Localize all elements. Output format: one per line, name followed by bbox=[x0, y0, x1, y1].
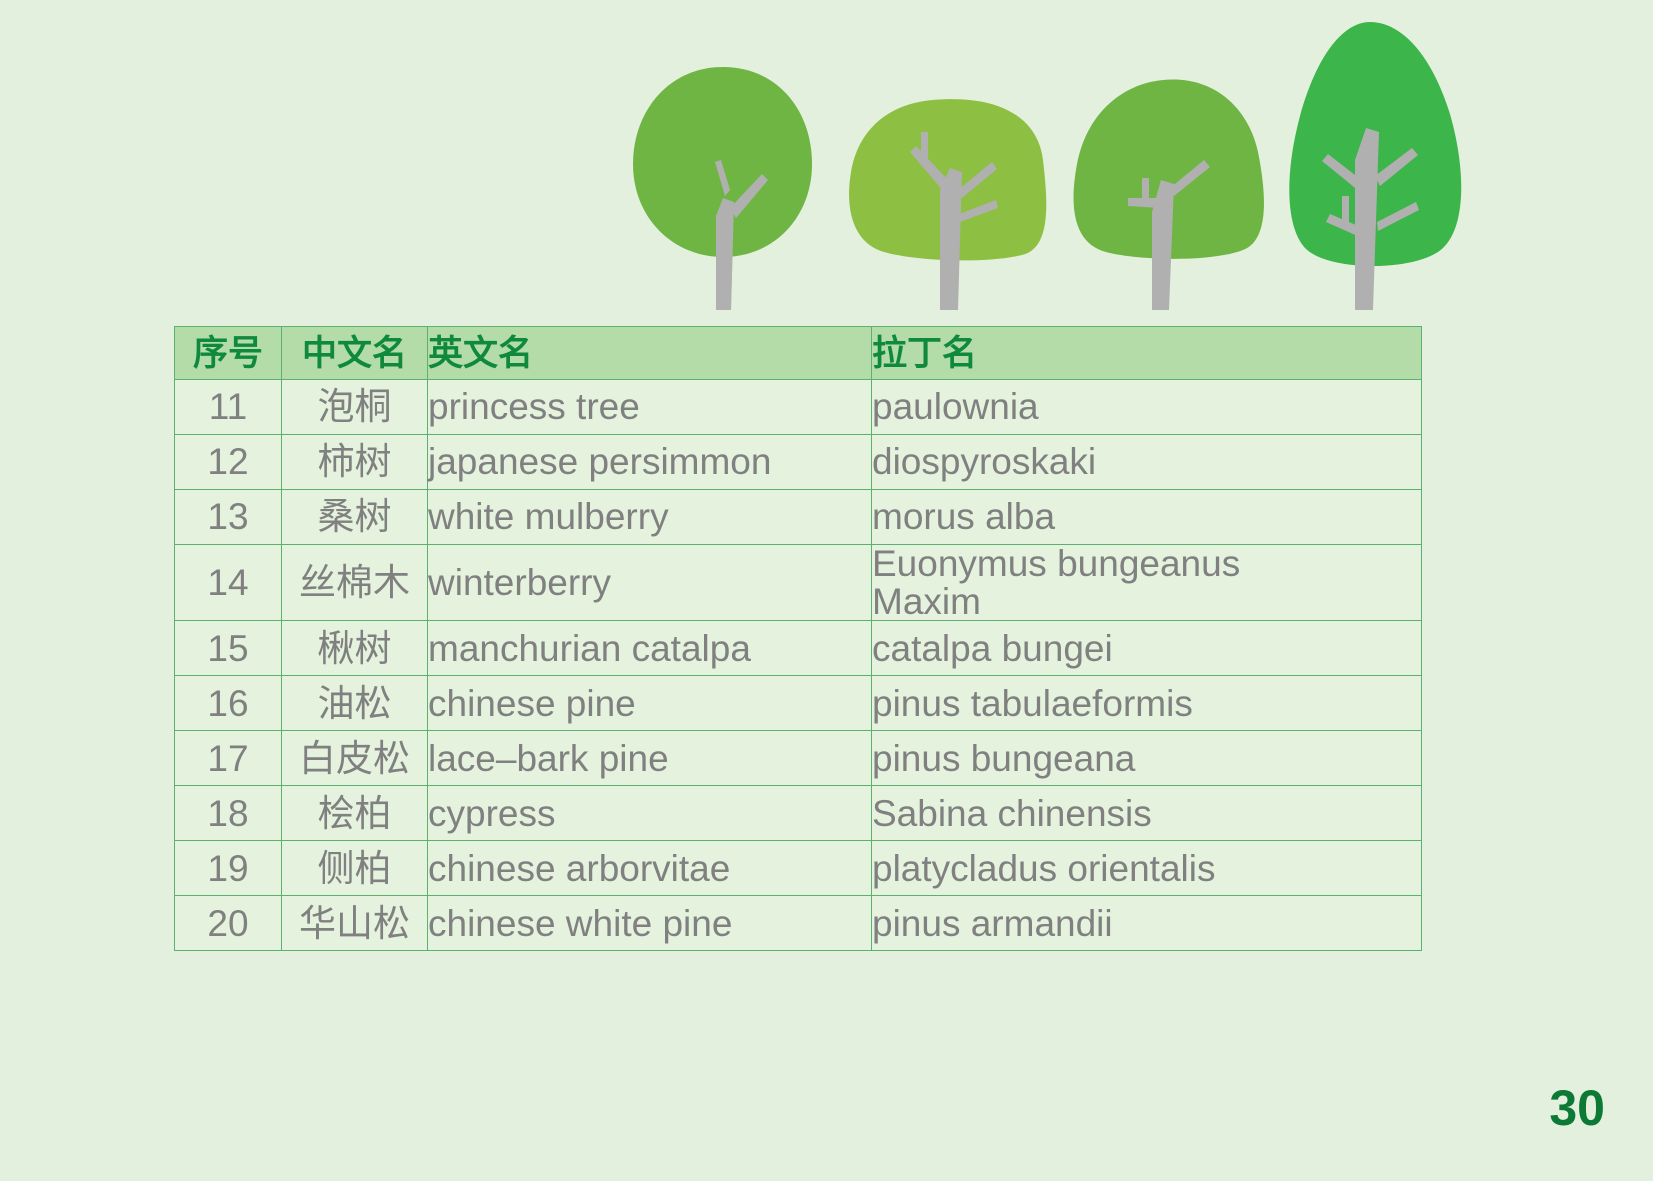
cell-latin-line1: platycladus orientalis bbox=[872, 850, 1421, 888]
cell-english: chinese pine bbox=[428, 676, 872, 731]
tree-4-icon bbox=[1289, 22, 1461, 310]
column-header-chinese: 中文名 bbox=[282, 327, 428, 380]
table-row: 13 桑树 white mulberry morus alba bbox=[175, 490, 1422, 545]
cell-latin: paulownia bbox=[872, 380, 1422, 435]
cell-english: chinese white pine bbox=[428, 896, 872, 951]
cell-chinese: 侧柏 bbox=[282, 841, 428, 896]
tree-illustration-band bbox=[0, 0, 1653, 320]
cell-english: chinese arborvitae bbox=[428, 841, 872, 896]
cell-chinese: 柿树 bbox=[282, 435, 428, 490]
cell-index: 19 bbox=[175, 841, 282, 896]
table-row: 19 侧柏 chinese arborvitae platycladus ori… bbox=[175, 841, 1422, 896]
cell-latin: platycladus orientalis bbox=[872, 841, 1422, 896]
column-header-index: 序号 bbox=[175, 327, 282, 380]
table-row: 20 华山松 chinese white pine pinus armandii bbox=[175, 896, 1422, 951]
cell-english: cypress bbox=[428, 786, 872, 841]
cell-index: 18 bbox=[175, 786, 282, 841]
cell-latin-line1: catalpa bungei bbox=[872, 630, 1421, 668]
cell-index: 17 bbox=[175, 731, 282, 786]
column-header-english: 英文名 bbox=[428, 327, 872, 380]
tree-2-icon bbox=[849, 99, 1046, 310]
cell-chinese: 丝棉木 bbox=[282, 545, 428, 621]
cell-english: white mulberry bbox=[428, 490, 872, 545]
column-header-latin: 拉丁名 bbox=[872, 327, 1422, 380]
cell-latin: catalpa bungei bbox=[872, 621, 1422, 676]
cell-chinese: 白皮松 bbox=[282, 731, 428, 786]
cell-latin-line1: pinus bungeana bbox=[872, 740, 1421, 778]
cell-english: winterberry bbox=[428, 545, 872, 621]
cell-chinese: 华山松 bbox=[282, 896, 428, 951]
cell-latin-line2: Maxim bbox=[872, 583, 1421, 621]
table-row: 14 丝棉木 winterberry Euonymus bungeanus Ma… bbox=[175, 545, 1422, 621]
cell-index: 13 bbox=[175, 490, 282, 545]
cell-latin: Euonymus bungeanus Maxim bbox=[872, 545, 1422, 621]
cell-english: lace–bark pine bbox=[428, 731, 872, 786]
cell-latin: Sabina chinensis bbox=[872, 786, 1422, 841]
cell-index: 15 bbox=[175, 621, 282, 676]
cell-latin-line1: pinus tabulaeformis bbox=[872, 685, 1421, 723]
cell-english: japanese persimmon bbox=[428, 435, 872, 490]
table-header: 序号 中文名 英文名 拉丁名 bbox=[175, 327, 1422, 380]
cell-latin: pinus tabulaeformis bbox=[872, 676, 1422, 731]
species-table-wrap: 序号 中文名 英文名 拉丁名 11 泡桐 princess tree paulo… bbox=[174, 326, 1417, 951]
table-row: 15 楸树 manchurian catalpa catalpa bungei bbox=[175, 621, 1422, 676]
cell-chinese: 桑树 bbox=[282, 490, 428, 545]
cell-index: 14 bbox=[175, 545, 282, 621]
table-row: 17 白皮松 lace–bark pine pinus bungeana bbox=[175, 731, 1422, 786]
cell-latin: diospyroskaki bbox=[872, 435, 1422, 490]
table-row: 11 泡桐 princess tree paulownia bbox=[175, 380, 1422, 435]
cell-latin-line1: Sabina chinensis bbox=[872, 795, 1421, 833]
cell-latin-line1: morus alba bbox=[872, 498, 1421, 536]
table-header-row: 序号 中文名 英文名 拉丁名 bbox=[175, 327, 1422, 380]
cell-chinese: 泡桐 bbox=[282, 380, 428, 435]
cell-chinese: 油松 bbox=[282, 676, 428, 731]
cell-chinese: 桧柏 bbox=[282, 786, 428, 841]
cell-english: princess tree bbox=[428, 380, 872, 435]
cell-latin: pinus bungeana bbox=[872, 731, 1422, 786]
cell-latin-line1: pinus armandii bbox=[872, 905, 1421, 943]
cell-index: 16 bbox=[175, 676, 282, 731]
table-row: 16 油松 chinese pine pinus tabulaeformis bbox=[175, 676, 1422, 731]
cell-latin: pinus armandii bbox=[872, 896, 1422, 951]
table-row: 18 桧柏 cypress Sabina chinensis bbox=[175, 786, 1422, 841]
cell-index: 20 bbox=[175, 896, 282, 951]
page-number: 30 bbox=[1549, 1083, 1605, 1133]
table-row: 12 柿树 japanese persimmon diospyroskaki bbox=[175, 435, 1422, 490]
cell-chinese: 楸树 bbox=[282, 621, 428, 676]
cell-index: 11 bbox=[175, 380, 282, 435]
table-body: 11 泡桐 princess tree paulownia 12 柿树 japa… bbox=[175, 380, 1422, 951]
cell-index: 12 bbox=[175, 435, 282, 490]
tree-3-icon bbox=[1074, 79, 1264, 310]
cell-latin: morus alba bbox=[872, 490, 1422, 545]
cell-latin-line1: Euonymus bungeanus bbox=[872, 545, 1421, 583]
cell-latin-line1: paulownia bbox=[872, 388, 1421, 426]
cell-english: manchurian catalpa bbox=[428, 621, 872, 676]
tree-1-icon bbox=[633, 67, 812, 310]
species-table: 序号 中文名 英文名 拉丁名 11 泡桐 princess tree paulo… bbox=[174, 326, 1422, 951]
cell-latin-line1: diospyroskaki bbox=[872, 443, 1421, 481]
